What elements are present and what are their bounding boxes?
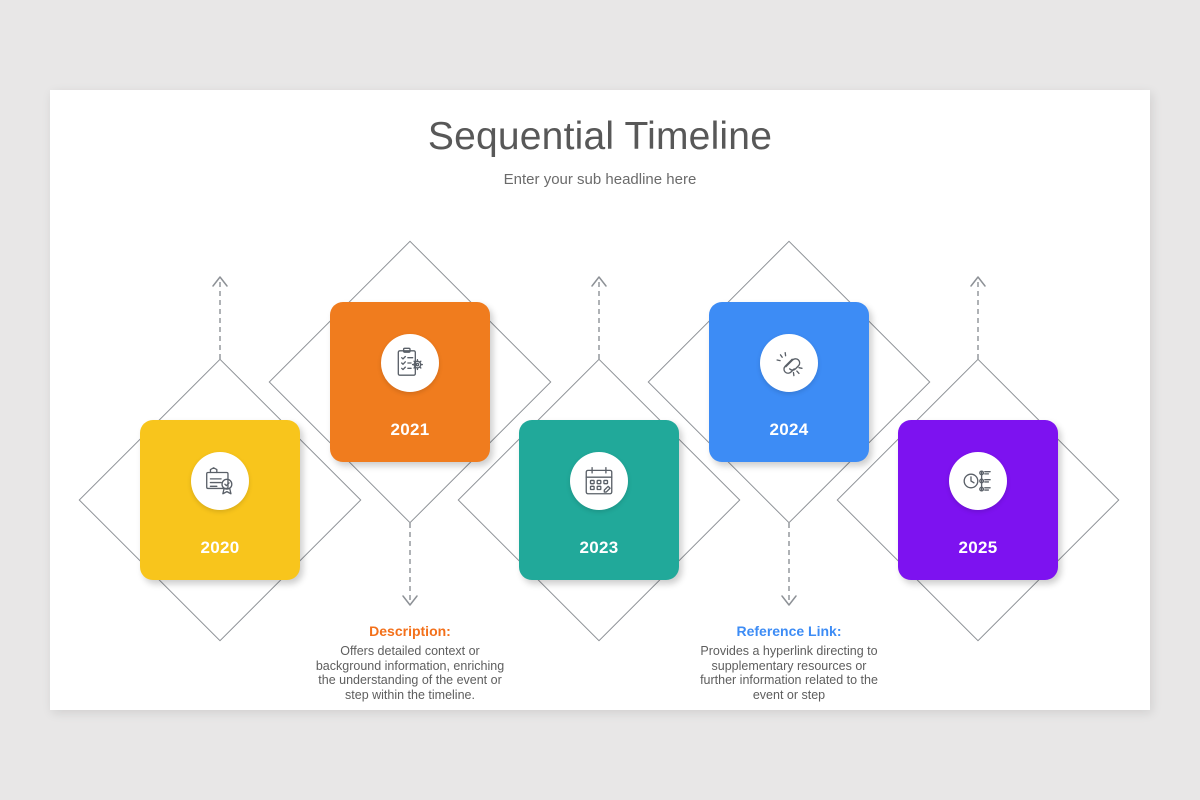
step-year-label: 2025: [898, 538, 1058, 558]
step-card-2024[interactable]: 2024: [709, 302, 869, 462]
calendar-icon: [570, 452, 628, 510]
step-heading: Reference Link:: [694, 623, 884, 641]
dashed-connector: [398, 523, 422, 609]
slide-canvas: Sequential Timeline Enter your sub headl…: [50, 90, 1150, 710]
step-card-2021[interactable]: 2021: [330, 302, 490, 462]
step-card-2025[interactable]: 2025: [898, 420, 1058, 580]
step-year-label: 2021: [330, 420, 490, 440]
dashed-connector: [777, 523, 801, 609]
step-text-block: Reference Link:Provides a hyperlink dire…: [694, 623, 884, 703]
dashed-connector: [587, 273, 611, 359]
step-text-block: Description:Offers detailed context or b…: [315, 623, 505, 703]
dashed-connector: [208, 273, 232, 359]
step-year-label: 2023: [519, 538, 679, 558]
step-card-2020[interactable]: 2020: [140, 420, 300, 580]
dashed-connector: [966, 273, 990, 359]
step-heading: Description:: [315, 623, 505, 641]
step-year-label: 2024: [709, 420, 869, 440]
certificate-award-icon: [191, 452, 249, 510]
chain-link-icon: [760, 334, 818, 392]
clock-timeline-icon: [949, 452, 1007, 510]
clipboard-gear-icon: [381, 334, 439, 392]
step-year-label: 2020: [140, 538, 300, 558]
timeline-diagram: 2020Title:Briefly identifies the event o…: [50, 90, 1150, 710]
step-body-text: Offers detailed context or background in…: [315, 644, 505, 703]
step-card-2023[interactable]: 2023: [519, 420, 679, 580]
step-body-text: Provides a hyperlink directing to supple…: [694, 644, 884, 703]
